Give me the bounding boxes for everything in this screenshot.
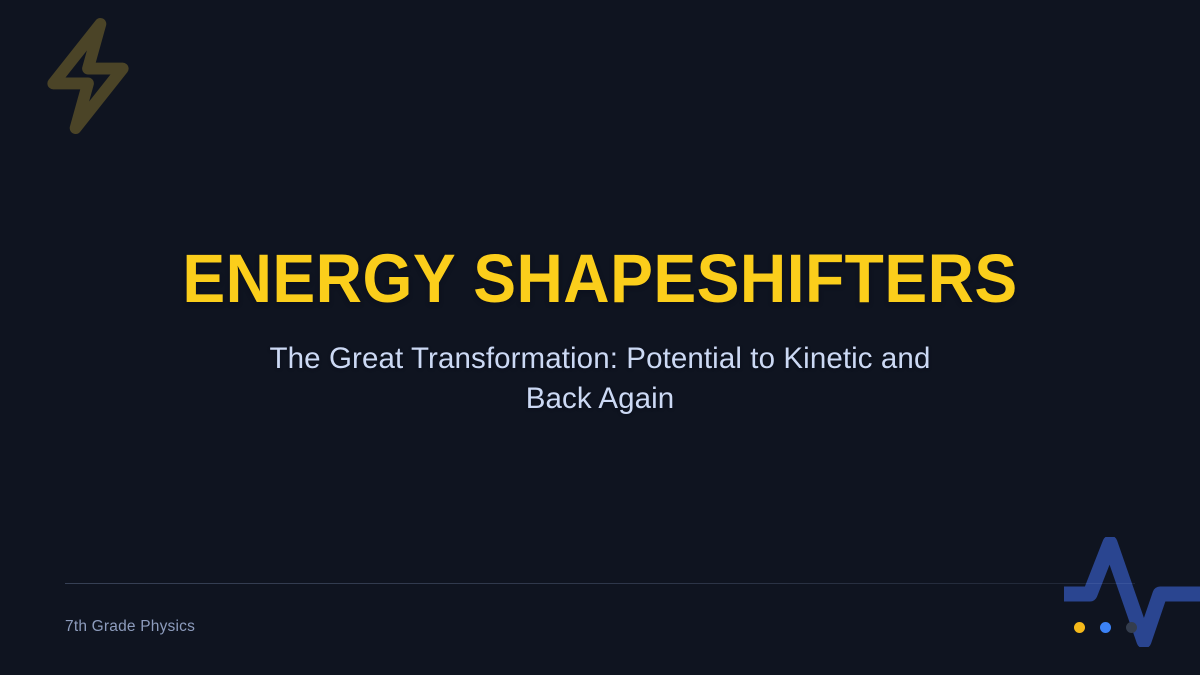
progress-dot-3[interactable] <box>1126 622 1137 633</box>
page-title: ENERGY SHAPESHIFTERS <box>126 244 1075 313</box>
slide-content: ENERGY SHAPESHIFTERS The Great Transform… <box>0 244 1200 418</box>
progress-dot-1[interactable] <box>1074 622 1085 633</box>
progress-dot-2[interactable] <box>1100 622 1111 633</box>
title-slide: ENERGY SHAPESHIFTERS The Great Transform… <box>0 0 1200 675</box>
slide-footer: 7th Grade Physics <box>65 606 1145 648</box>
footer-course-label: 7th Grade Physics <box>65 618 195 636</box>
footer-divider <box>65 583 1135 584</box>
progress-dots <box>1074 622 1137 633</box>
slide-subtitle: The Great Transformation: Potential to K… <box>235 339 965 418</box>
lightning-bolt-icon <box>26 14 150 138</box>
